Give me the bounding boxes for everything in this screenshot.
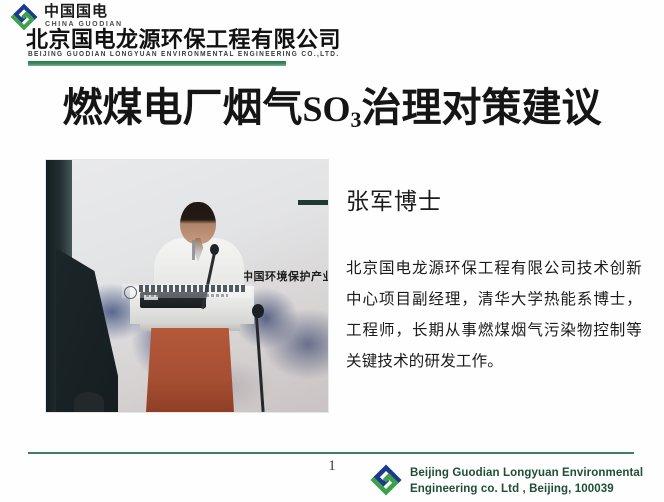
photo-floor-microphone-head bbox=[252, 304, 264, 318]
title-formula-main: SO bbox=[302, 89, 350, 129]
header-divider bbox=[28, 61, 286, 66]
page-number: 1 bbox=[322, 458, 342, 475]
title-part-2: 治理对策建议 bbox=[362, 85, 602, 131]
speaker-photo: 中国环境保护产业协会 bbox=[46, 160, 328, 412]
photo-dark-dash bbox=[298, 200, 328, 205]
corp-name-cn: 中国国电 bbox=[44, 3, 108, 20]
slide-canvas: 中国国电 CHINA GUODIAN 北京国电龙源环保工程有限公司 BEIJIN… bbox=[0, 0, 664, 502]
footer-company-text: Beijing Guodian Longyuan Environmental E… bbox=[410, 465, 660, 497]
photo-foreground-object bbox=[74, 392, 104, 412]
title-formula: SO3 bbox=[302, 89, 361, 129]
company-name-cn: 北京国电龙源环保工程有限公司 bbox=[26, 28, 341, 52]
photo-backdrop-text: 中国环境保护产业协会 bbox=[242, 268, 328, 284]
photo-banner-logo-icon bbox=[124, 286, 137, 299]
footer-guodian-diamond-logo-icon bbox=[368, 464, 404, 496]
photo-speaker-badge bbox=[192, 240, 195, 260]
footer-line-1: Beijing Guodian Longyuan Environmental bbox=[410, 465, 660, 481]
company-name-en: BEIJING GUODIAN LONGYUAN ENVIRONMENTAL E… bbox=[28, 50, 340, 58]
photo-banner-title-text bbox=[139, 285, 247, 292]
photo-podium bbox=[146, 328, 234, 412]
slide-header: 中国国电 CHINA GUODIAN 北京国电龙源环保工程有限公司 BEIJIN… bbox=[0, 0, 664, 70]
photo-banner-sub-text bbox=[146, 294, 228, 297]
footer-line-2: Engineering co. Ltd , Beijing, 100039 bbox=[410, 481, 660, 497]
speaker-name: 张军博士 bbox=[346, 182, 442, 216]
photo-speaker-head bbox=[180, 202, 216, 244]
footer-divider bbox=[28, 452, 634, 454]
title-part-1: 燃煤电厂烟气 bbox=[62, 85, 302, 131]
speaker-bio: 北京国电龙源环保工程有限公司技术创新中心项目副经理，清华大学热能系博士，工程师，… bbox=[346, 253, 642, 377]
title-formula-sub: 3 bbox=[351, 107, 362, 132]
page-title: 燃煤电厂烟气SO3治理对策建议 bbox=[0, 82, 664, 140]
photo-microphone-head bbox=[210, 244, 219, 255]
